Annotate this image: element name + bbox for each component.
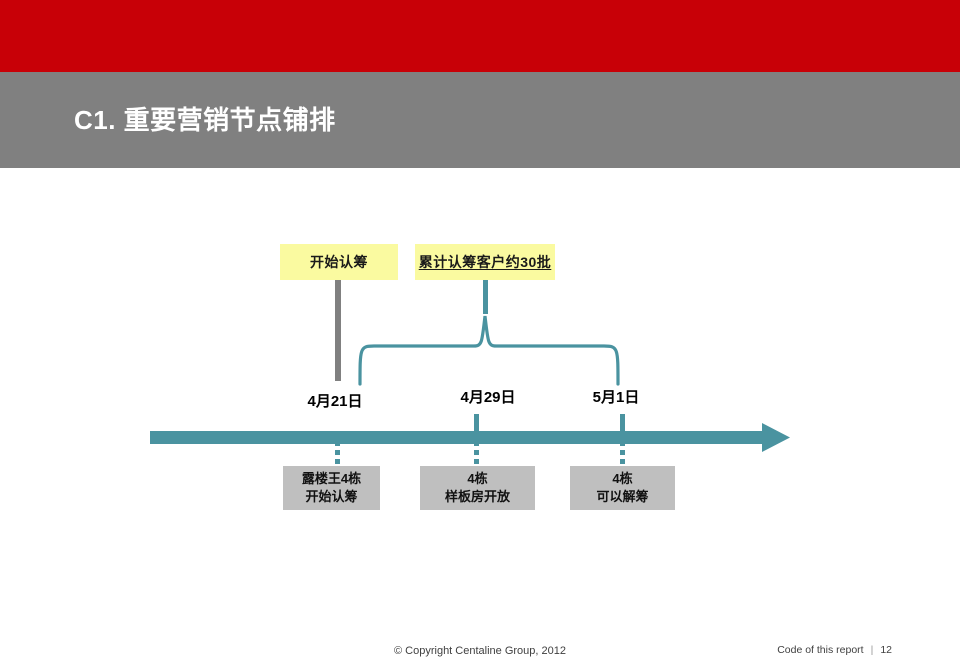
note-line-1: 4栋	[467, 470, 487, 488]
callout-box-start-subscription: 开始认筹	[280, 244, 398, 280]
note-line-2: 可以解筹	[596, 488, 648, 506]
date-label-april-21: 4月21日	[285, 390, 385, 411]
note-box-may-1: 4栋 可以解筹	[570, 466, 675, 510]
date-label-april-29: 4月29日	[438, 386, 538, 407]
note-box-april-29: 4栋 样板房开放	[420, 466, 535, 510]
callout-label: 开始认筹	[310, 252, 368, 272]
note-line-2: 样板房开放	[445, 488, 510, 506]
callout-box-cumulative-clients: 累计认筹客户约30批	[415, 244, 555, 280]
note-line-1: 4栋	[612, 470, 632, 488]
curly-brace-connector	[340, 276, 640, 388]
note-line-1: 露楼王4栋	[302, 470, 361, 488]
note-box-april-21: 露楼王4栋 开始认筹	[283, 466, 380, 510]
date-label-may-1: 5月1日	[566, 386, 666, 407]
footer-separator: |	[871, 644, 874, 656]
footer-page-number: 12	[880, 644, 892, 656]
note-line-2: 开始认筹	[305, 488, 357, 506]
header-red-bar	[0, 0, 960, 72]
callout-label: 累计认筹客户约30批	[419, 252, 552, 272]
page-title: C1. 重要营销节点铺排	[74, 100, 336, 137]
footer-report-info: Code of this report | 12	[777, 644, 892, 656]
timeline-diagram: 开始认筹 累计认筹客户约30批 4月21日 4月29日 5月1日 露楼王4栋 开…	[0, 168, 960, 628]
footer-report-code-label: Code of this report	[777, 644, 863, 656]
